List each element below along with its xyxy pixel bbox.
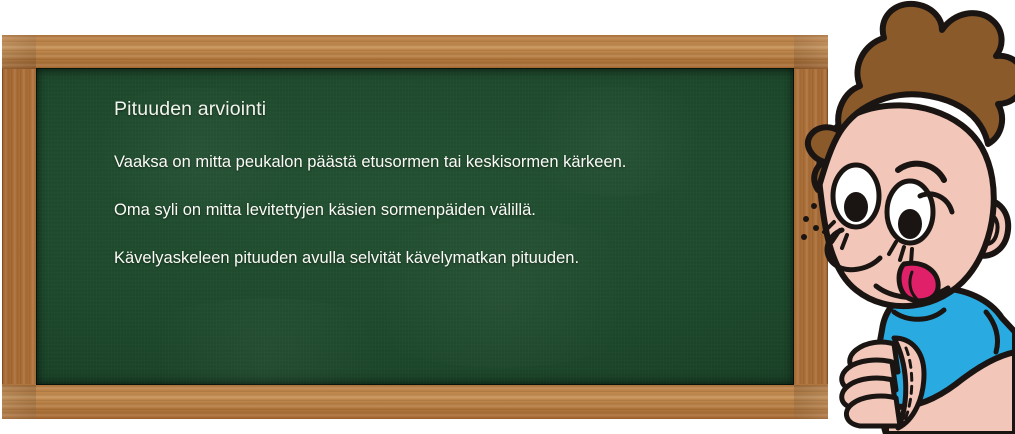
freckles (801, 203, 819, 240)
board-paragraph-3: Kävelyaskeleen pituuden avulla selvität … (114, 243, 739, 274)
cartoon-boy (790, 0, 1015, 434)
frame-rail-bottom (2, 384, 828, 419)
tongue (899, 263, 938, 301)
board-paragraph-2: Oma syli on mitta levitettyjen käsien so… (114, 195, 739, 226)
chalk-smudge (116, 298, 416, 385)
frame-corner-bottom-left (2, 385, 36, 419)
eye-left (833, 165, 879, 227)
frame-corner-top-left (2, 35, 36, 69)
hand (842, 338, 924, 428)
blackboard-surface: Pituuden arviointi Vaaksa on mitta peuka… (36, 68, 794, 385)
frame-rail-top (2, 35, 828, 69)
board-paragraph-1: Vaaksa on mitta peukalon päästä etusorme… (114, 147, 739, 178)
eye-right (887, 181, 933, 243)
chalk-smudge (336, 218, 666, 368)
slide-canvas: Pituuden arviointi Vaaksa on mitta peuka… (0, 0, 1015, 434)
blackboard-frame: Pituuden arviointi Vaaksa on mitta peuka… (2, 35, 828, 419)
board-title: Pituuden arviointi (114, 98, 754, 121)
